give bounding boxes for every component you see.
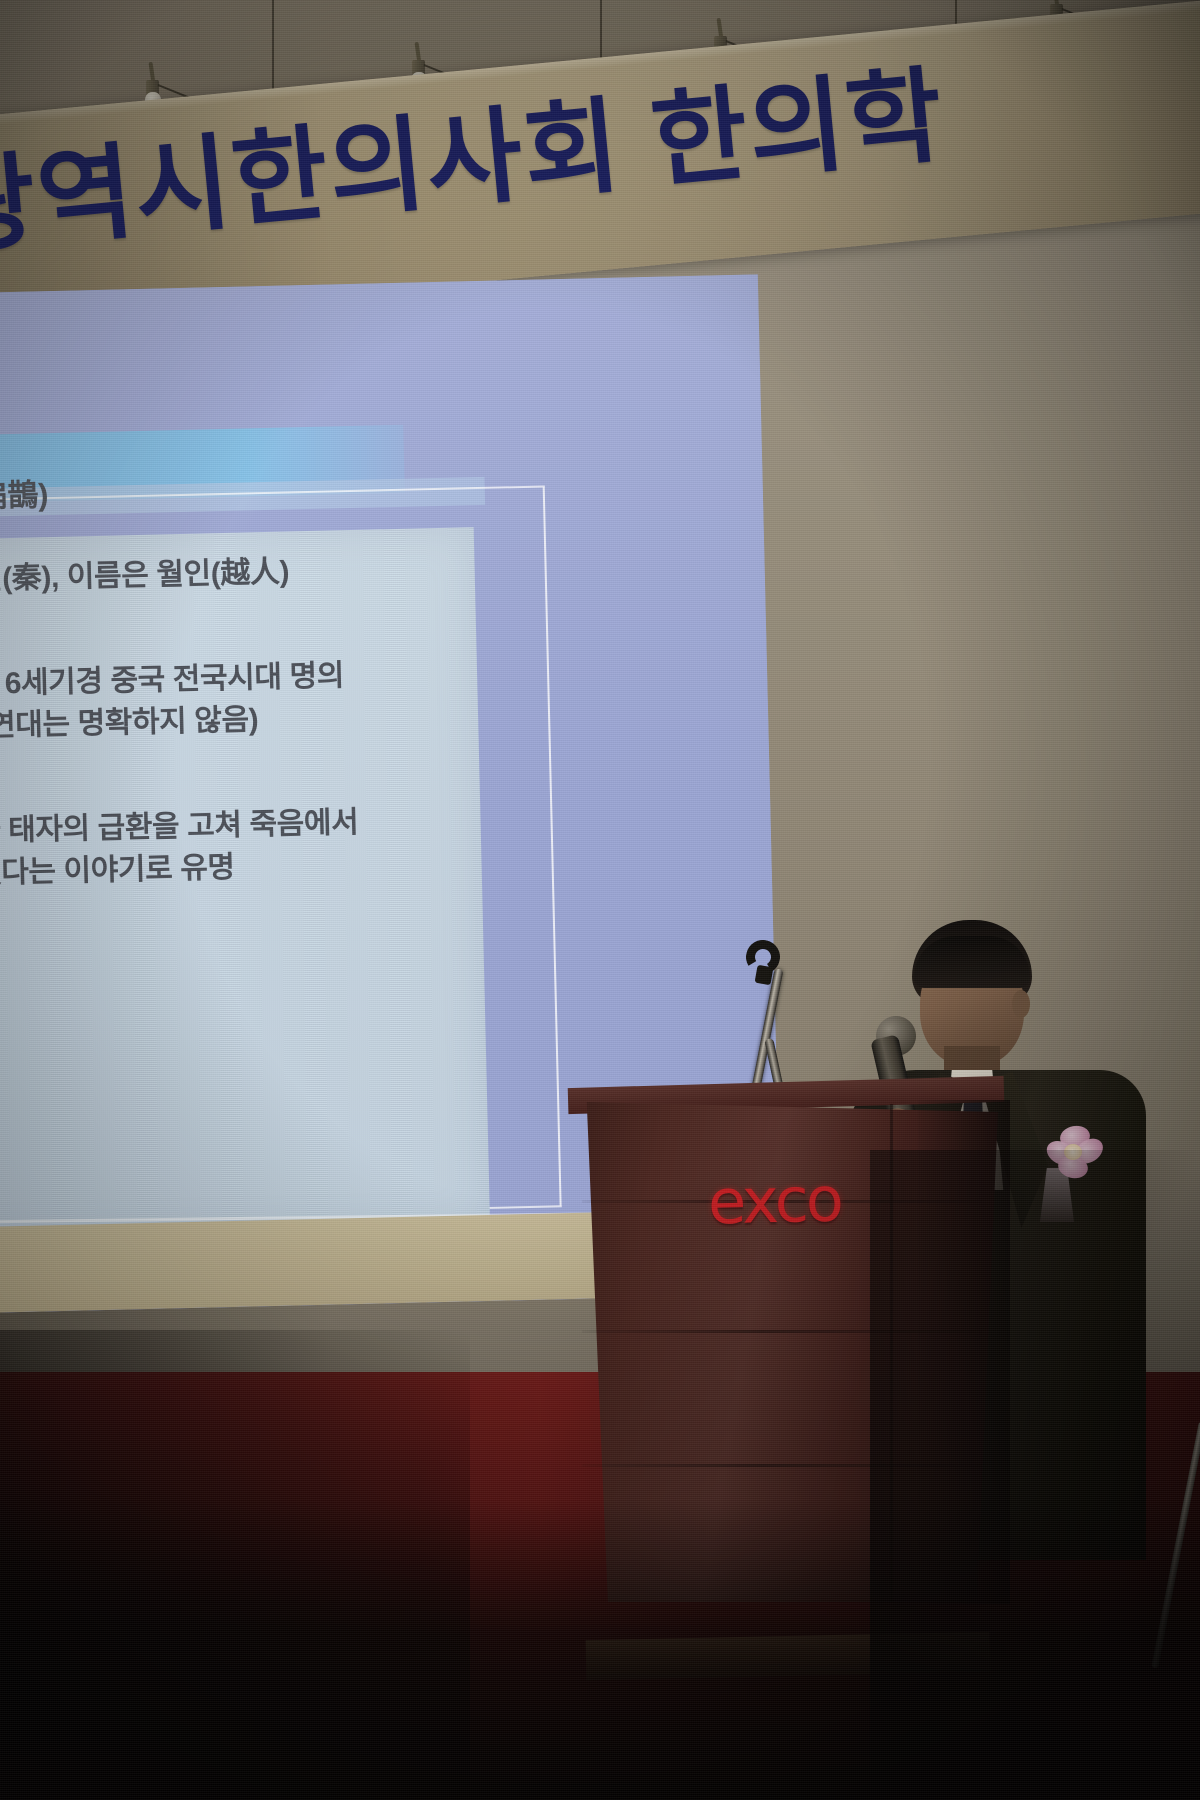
mic-clip-base xyxy=(755,965,774,986)
slide-text-block: 편작(扁鵲) 성은 진(秦), 이름은 월인(越人) 기원전 6세기경 중국 전… xyxy=(0,462,520,897)
bottom-shadow-overlay xyxy=(0,1500,1200,1800)
gooseneck-microphone xyxy=(740,940,810,1100)
slide-line-1: 성은 진(秦), 이름은 월인(越人) xyxy=(0,546,513,603)
stage-photo-scene: 광역시한의사회 한의학 편작(扁鵲) 성은 진(秦), 이름은 월인(越人) 기… xyxy=(0,0,1200,1800)
presenter-hair-front xyxy=(914,936,1030,988)
exco-logo: exco xyxy=(707,1163,841,1239)
presenter-ear xyxy=(1012,990,1030,1018)
